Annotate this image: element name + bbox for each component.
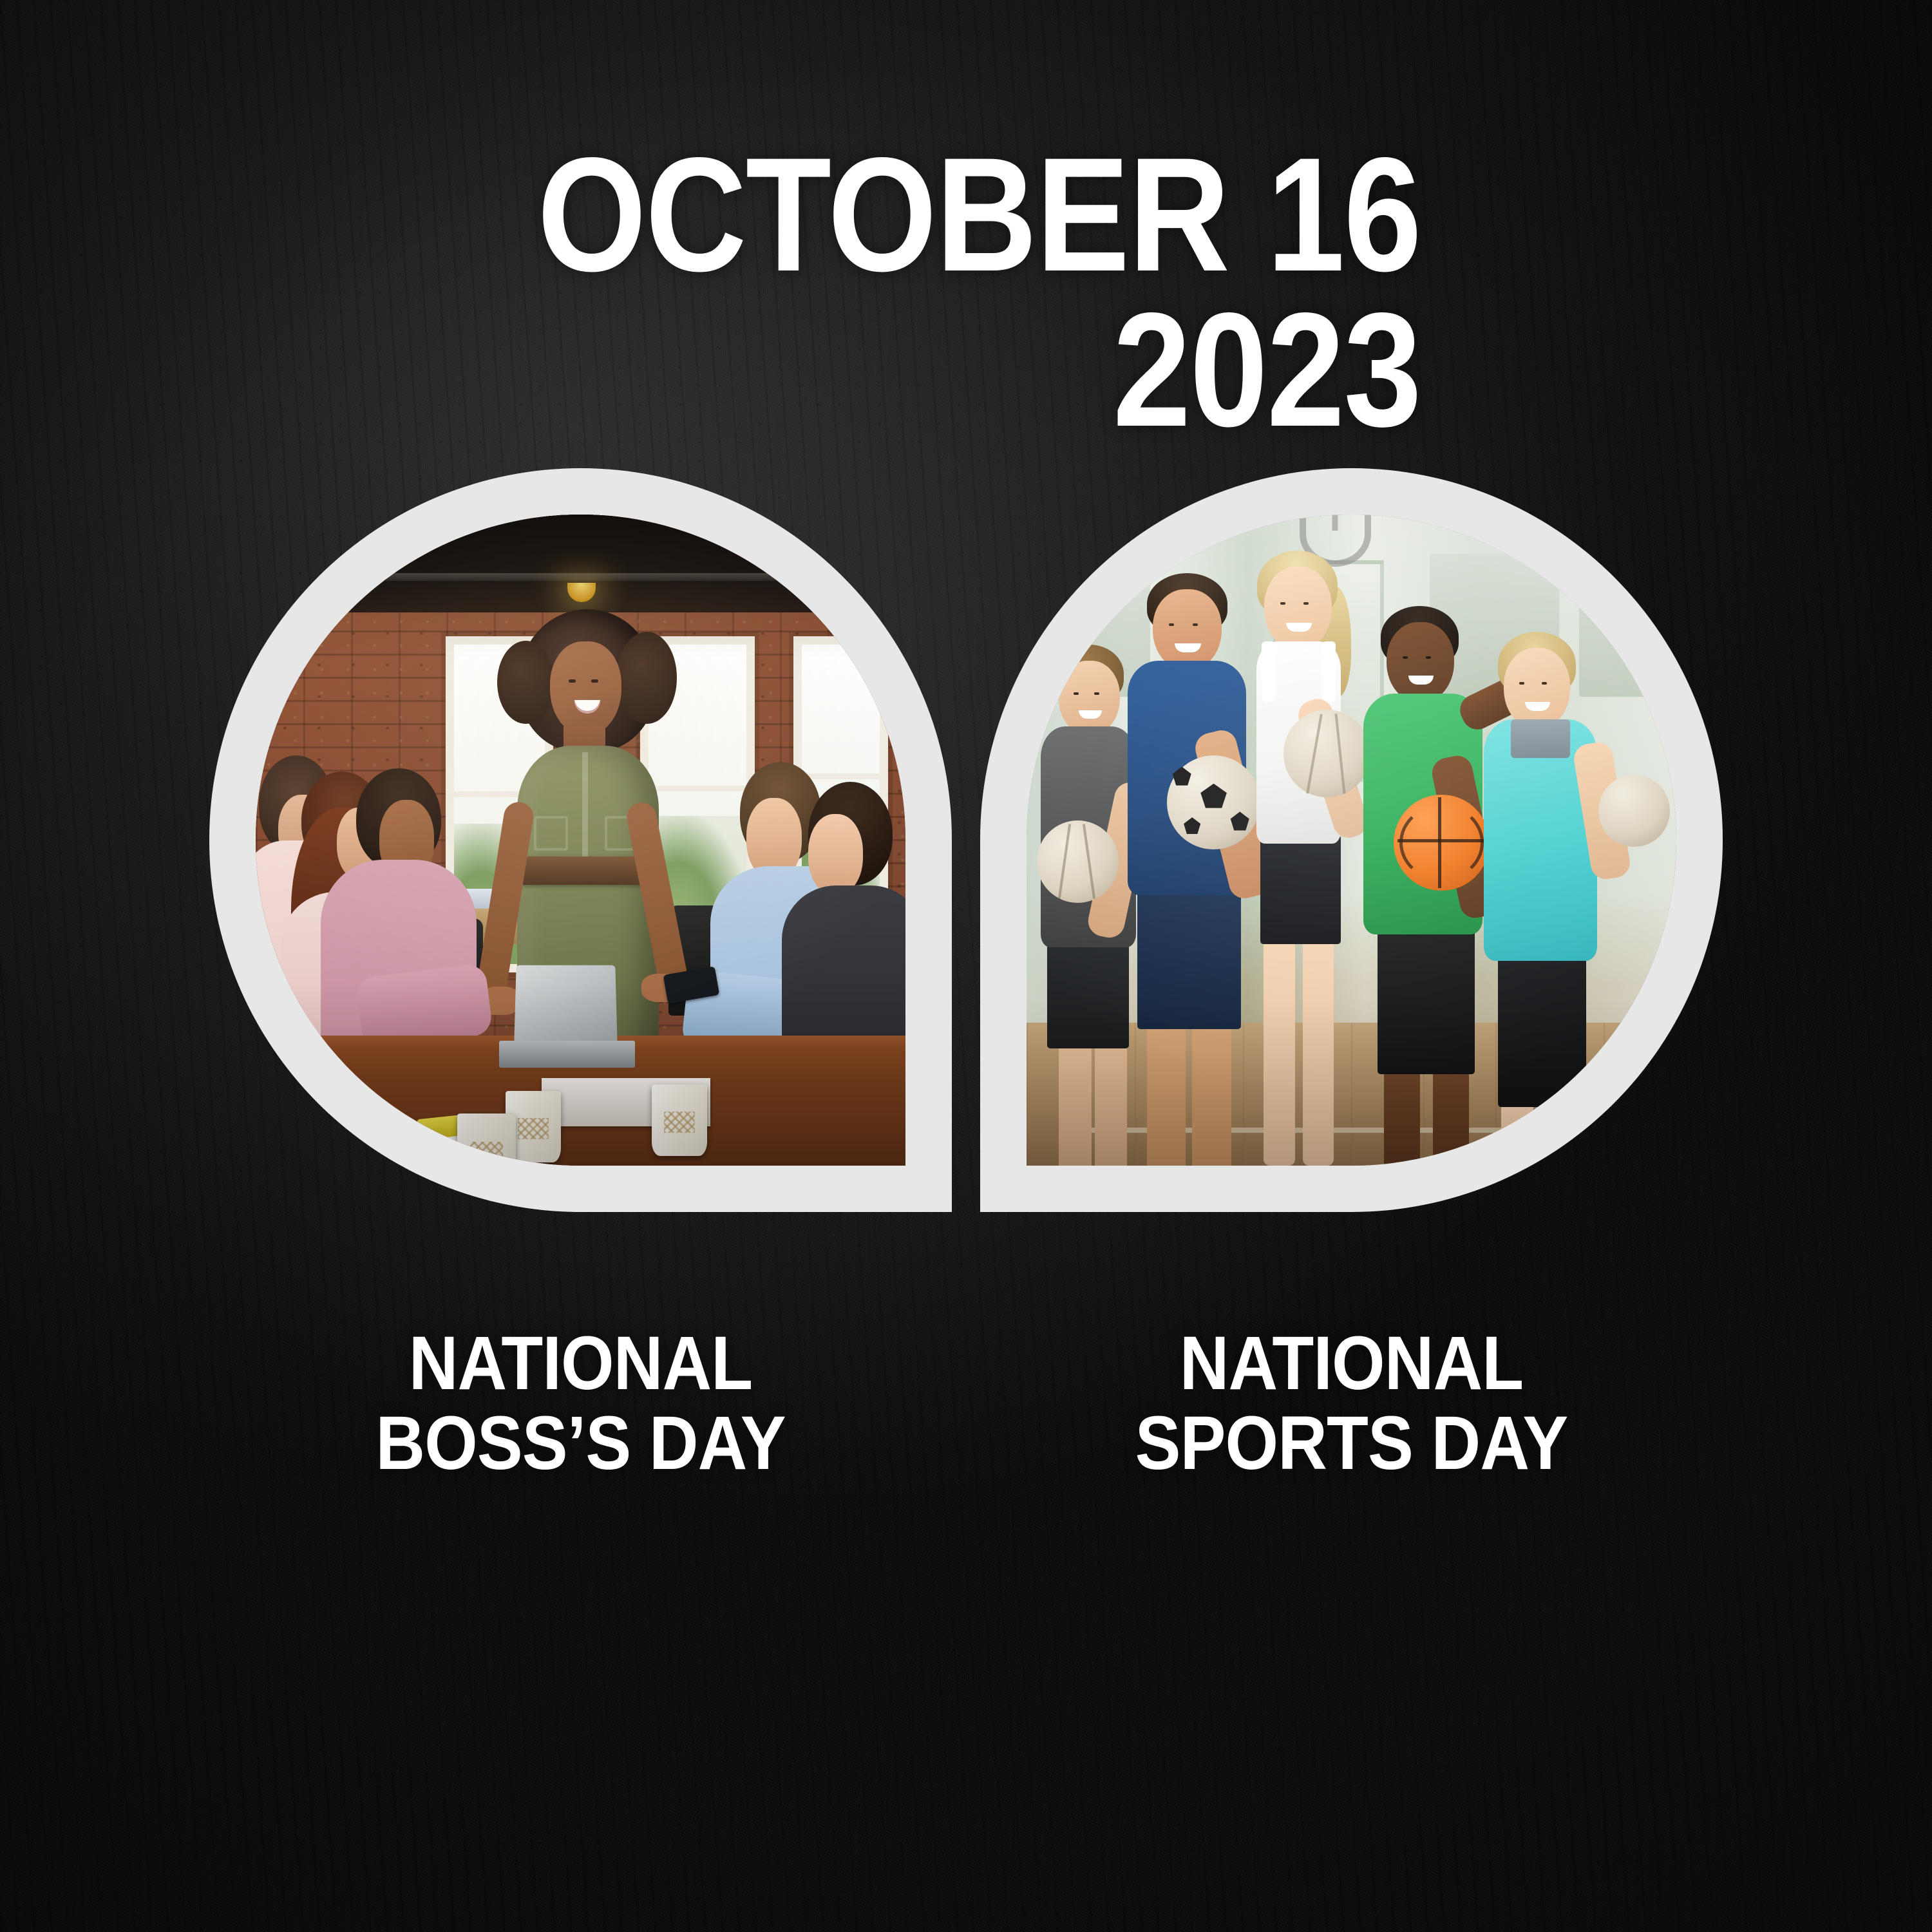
caption-sports-day-line2: SPORTS DAY xyxy=(1018,1404,1686,1484)
caption-bosss-day: NATIONAL BOSS’S DAY xyxy=(247,1324,915,1517)
photo-frame-sports-day[interactable] xyxy=(980,468,1723,1212)
caption-bosss-day-line2: BOSS’S DAY xyxy=(247,1404,915,1484)
poster-canvas: OCTOBER 16 2023 xyxy=(0,0,1932,1932)
caption-sports-day: NATIONAL SPORTS DAY xyxy=(1018,1324,1686,1517)
page-title: OCTOBER 16 2023 xyxy=(192,138,1421,448)
photo-grading xyxy=(1027,515,1676,1166)
photo-grading xyxy=(256,515,905,1166)
photo-children-with-sports-balls xyxy=(1027,515,1676,1166)
caption-sports-day-line1: NATIONAL xyxy=(1018,1324,1686,1404)
headline-date: OCTOBER 16 xyxy=(537,124,1421,305)
caption-row: NATIONAL BOSS’S DAY NATIONAL SPORTS DAY xyxy=(209,1324,1723,1517)
photo-frames-row xyxy=(209,468,1723,1212)
photo-frame-bosss-day[interactable] xyxy=(209,468,952,1212)
photo-office-team-meeting xyxy=(256,515,905,1166)
caption-bosss-day-line1: NATIONAL xyxy=(247,1324,915,1404)
headline-year: 2023 xyxy=(192,293,1421,448)
